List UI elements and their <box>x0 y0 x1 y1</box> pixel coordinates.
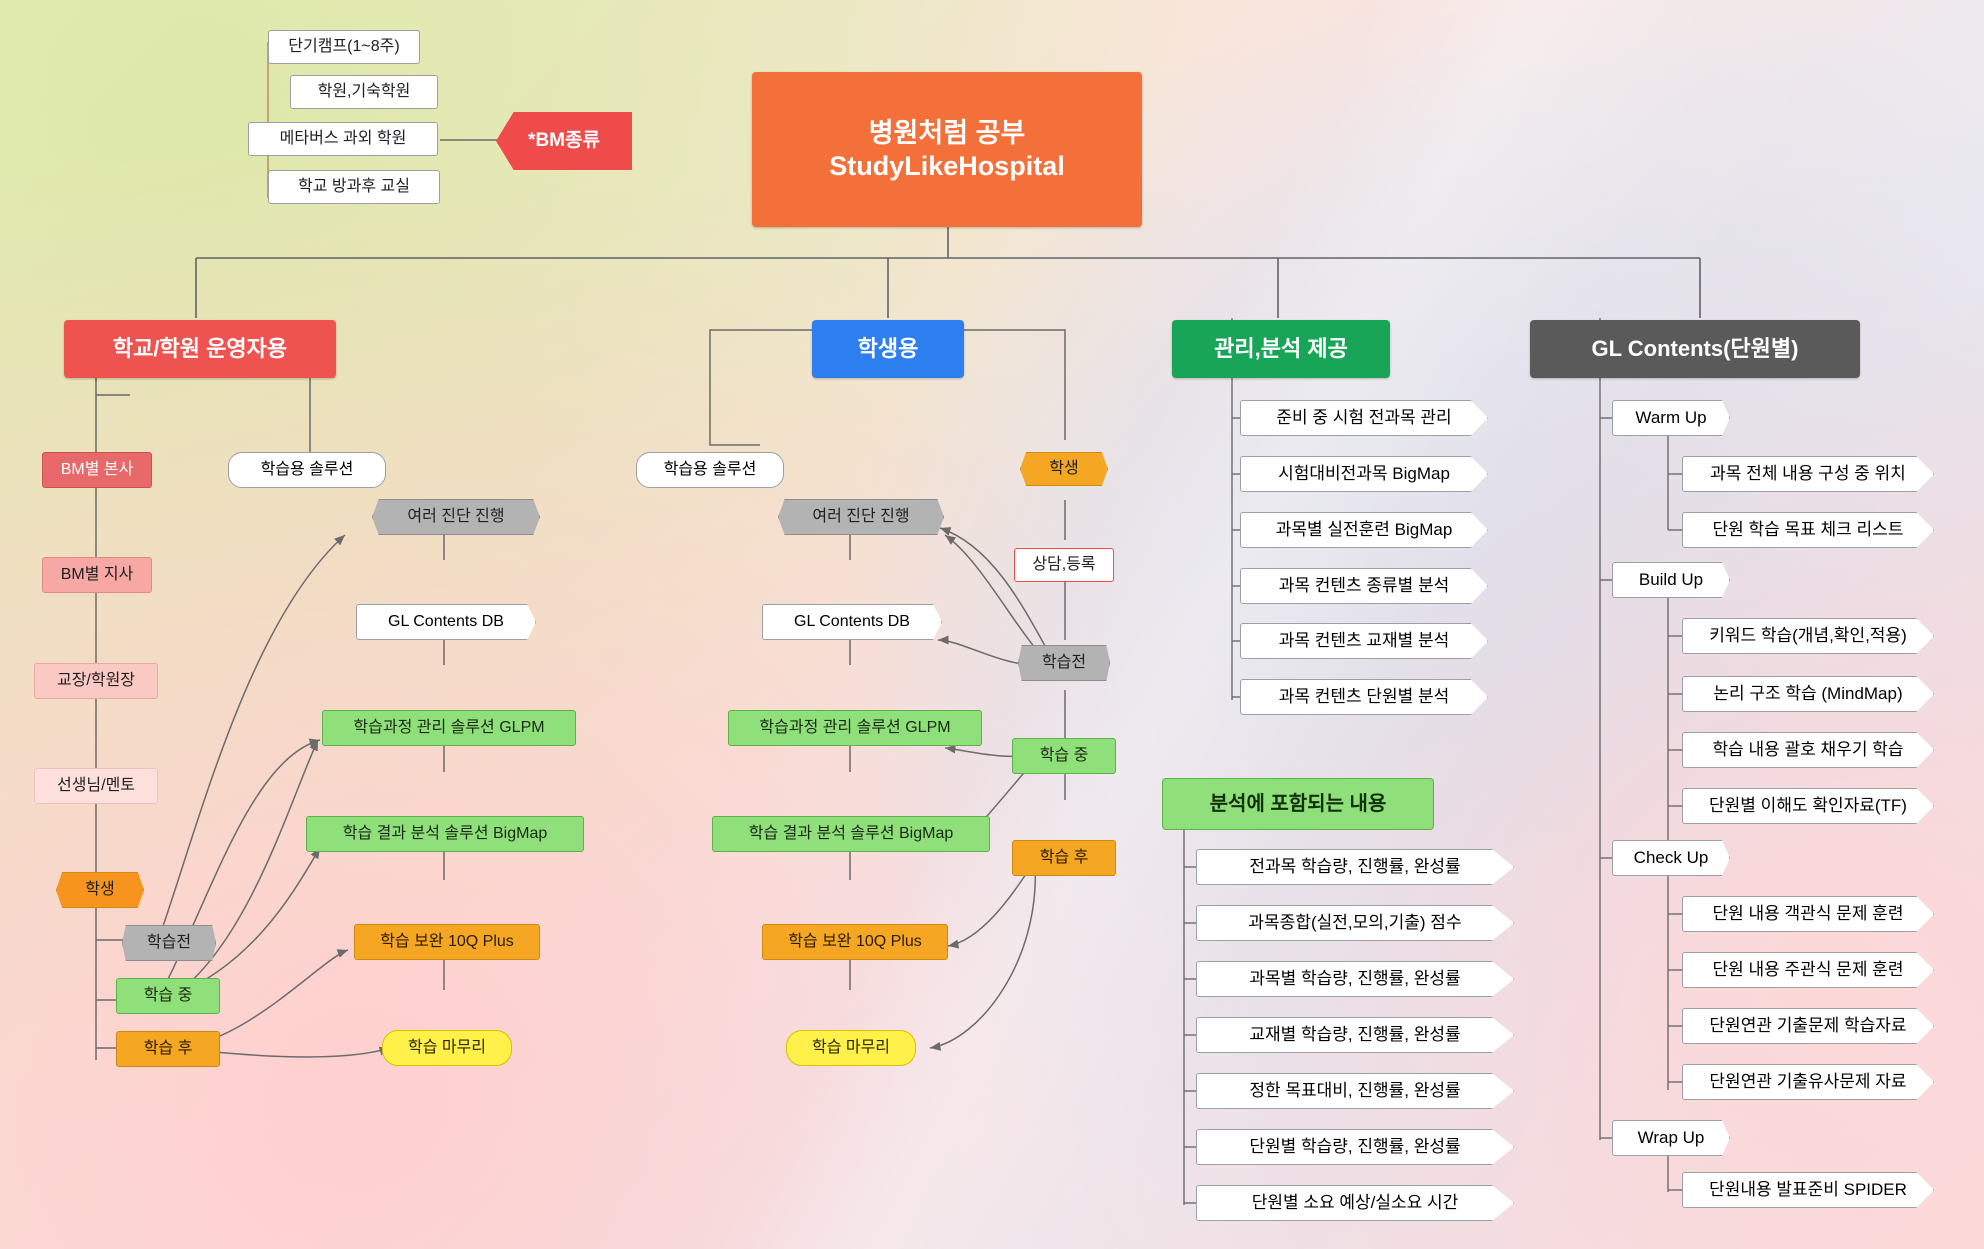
student-flow-2[interactable]: 학습과정 관리 솔루션 GLPM <box>728 710 982 746</box>
student-consult[interactable]: 상담,등록 <box>1014 548 1114 582</box>
analysis-item-0[interactable]: 준비 중 시험 전과목 관리 <box>1240 400 1488 436</box>
student-flow-0[interactable]: 여러 진단 진행 <box>778 499 944 535</box>
operator-flow-5[interactable]: 학습 마무리 <box>382 1030 512 1066</box>
operator-solution-label[interactable]: 학습용 솔루션 <box>228 452 386 488</box>
gl-group-2-label[interactable]: Check Up <box>1612 840 1730 876</box>
student-stage-0[interactable]: 학습전 <box>1018 645 1110 681</box>
student-stage-2[interactable]: 학습 후 <box>1012 840 1116 876</box>
operator-stage-1[interactable]: 학습 중 <box>116 978 220 1014</box>
student-flow-1[interactable]: GL Contents DB <box>762 604 942 640</box>
analysis-item-2[interactable]: 과목별 실전훈련 BigMap <box>1240 512 1488 548</box>
student-stage-1[interactable]: 학습 중 <box>1012 738 1116 774</box>
analysis-included-6[interactable]: 단원별 소요 예상/실소요 시간 <box>1196 1185 1514 1221</box>
analysis-included-header: 분석에 포함되는 내용 <box>1162 778 1434 830</box>
gl-group-1-item-1[interactable]: 논리 구조 학습 (MindMap) <box>1682 676 1934 712</box>
student-flow-5[interactable]: 학습 마무리 <box>786 1030 916 1066</box>
operator-flow-3[interactable]: 학습 결과 분석 솔루션 BigMap <box>306 816 584 852</box>
category-operator[interactable]: 학교/학원 운영자용 <box>64 320 336 378</box>
operator-flow-1[interactable]: GL Contents DB <box>356 604 536 640</box>
gl-group-1-item-2[interactable]: 학습 내용 괄호 채우기 학습 <box>1682 732 1934 768</box>
gl-group-0-item-1[interactable]: 단원 학습 목표 체크 리스트 <box>1682 512 1934 548</box>
gl-group-3-item-0[interactable]: 단원내용 발표준비 SPIDER <box>1682 1172 1934 1208</box>
bm-type-0[interactable]: 단기캠프(1~8주) <box>268 30 420 64</box>
bm-type-3[interactable]: 학교 방과후 교실 <box>268 170 440 204</box>
org-chain-2[interactable]: 교장/학원장 <box>34 663 158 699</box>
student-badge[interactable]: 학생 <box>1020 452 1108 486</box>
analysis-included-5[interactable]: 단원별 학습량, 진행률, 완성률 <box>1196 1129 1514 1165</box>
bm-type-2[interactable]: 메타버스 과외 학원 <box>248 122 438 156</box>
title-line-2: StudyLikeHospital <box>829 150 1065 183</box>
analysis-item-1[interactable]: 시험대비전과목 BigMap <box>1240 456 1488 492</box>
gl-group-0-item-0[interactable]: 과목 전체 내용 구성 중 위치 <box>1682 456 1934 492</box>
title-line-1: 병원처럼 공부 <box>869 117 1026 150</box>
analysis-included-1[interactable]: 과목종합(실전,모의,기출) 점수 <box>1196 905 1514 941</box>
gl-group-3-label[interactable]: Wrap Up <box>1612 1120 1730 1156</box>
analysis-included-0[interactable]: 전과목 학습량, 진행률, 완성률 <box>1196 849 1514 885</box>
gl-group-1-label[interactable]: Build Up <box>1612 562 1730 598</box>
analysis-item-4[interactable]: 과목 컨텐츠 교재별 분석 <box>1240 623 1488 659</box>
category-gl-contents[interactable]: GL Contents(단원별) <box>1530 320 1860 378</box>
category-student[interactable]: 학생용 <box>812 320 964 378</box>
org-chain-4-student[interactable]: 학생 <box>56 872 144 908</box>
analysis-item-5[interactable]: 과목 컨텐츠 단원별 분석 <box>1240 679 1488 715</box>
student-flow-3[interactable]: 학습 결과 분석 솔루션 BigMap <box>712 816 990 852</box>
diagram-title: 병원처럼 공부 StudyLikeHospital <box>752 72 1142 227</box>
analysis-included-2[interactable]: 과목별 학습량, 진행률, 완성률 <box>1196 961 1514 997</box>
category-analysis[interactable]: 관리,분석 제공 <box>1172 320 1390 378</box>
gl-group-2-item-2[interactable]: 단원연관 기출문제 학습자료 <box>1682 1008 1934 1044</box>
student-solution-label[interactable]: 학습용 솔루션 <box>636 452 784 488</box>
operator-stage-2[interactable]: 학습 후 <box>116 1031 220 1067</box>
student-flow-4[interactable]: 학습 보완 10Q Plus <box>762 924 948 960</box>
bm-type-1[interactable]: 학원,기숙학원 <box>290 75 438 109</box>
operator-stage-0[interactable]: 학습전 <box>122 925 216 961</box>
org-chain-0[interactable]: BM별 본사 <box>42 452 152 488</box>
gl-group-1-item-3[interactable]: 단원별 이해도 확인자료(TF) <box>1682 788 1934 824</box>
gl-group-2-item-3[interactable]: 단원연관 기출유사문제 자료 <box>1682 1064 1934 1100</box>
org-chain-1[interactable]: BM별 지사 <box>42 557 152 593</box>
analysis-item-3[interactable]: 과목 컨텐츠 종류별 분석 <box>1240 568 1488 604</box>
gl-group-1-item-0[interactable]: 키워드 학습(개념,확인,적용) <box>1682 618 1934 654</box>
gl-group-2-item-1[interactable]: 단원 내용 주관식 문제 훈련 <box>1682 952 1934 988</box>
org-chain-3[interactable]: 선생님/멘토 <box>34 768 158 804</box>
operator-flow-4[interactable]: 학습 보완 10Q Plus <box>354 924 540 960</box>
operator-flow-0[interactable]: 여러 진단 진행 <box>372 499 540 535</box>
operator-flow-2[interactable]: 학습과정 관리 솔루션 GLPM <box>322 710 576 746</box>
bm-kind-badge: *BM종류 <box>496 112 632 170</box>
gl-group-0-label[interactable]: Warm Up <box>1612 400 1730 436</box>
analysis-included-3[interactable]: 교재별 학습량, 진행률, 완성률 <box>1196 1017 1514 1053</box>
analysis-included-4[interactable]: 정한 목표대비, 진행률, 완성률 <box>1196 1073 1514 1109</box>
gl-group-2-item-0[interactable]: 단원 내용 객관식 문제 훈련 <box>1682 896 1934 932</box>
